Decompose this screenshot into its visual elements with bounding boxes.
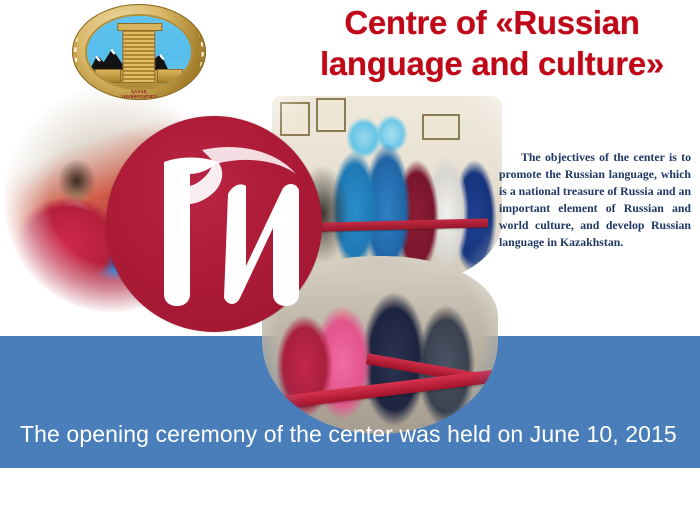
emblem-inner-scene xyxy=(87,16,192,89)
wall-plaque-frame xyxy=(422,114,460,140)
emblem-left-wing xyxy=(95,69,121,83)
slide-canvas: ҚАЗАҚ УНИВЕРСИТЕТІ Centre of «Russian la… xyxy=(0,0,700,525)
page-title: Centre of «Russian language and culture» xyxy=(292,2,692,84)
pushkin-institute-monogram-icon xyxy=(106,116,322,332)
page-title-line-1: Centre of «Russian xyxy=(292,2,692,43)
emblem-right-wing xyxy=(157,69,183,83)
objectives-paragraph: The objectives of the center is to promo… xyxy=(499,149,691,251)
red-ribbon xyxy=(262,369,498,412)
emblem-tower-icon xyxy=(122,27,155,83)
emblem-caption: ҚАЗАҚ УНИВЕРСИТЕТІ xyxy=(72,89,206,99)
page-title-line-2: language and culture» xyxy=(292,43,692,84)
emblem-caption-line-2: УНИВЕРСИТЕТІ xyxy=(72,94,206,99)
kaznu-emblem: ҚАЗАҚ УНИВЕРСИТЕТІ xyxy=(72,4,206,100)
ceremony-caption: The opening ceremony of the center was h… xyxy=(20,419,688,449)
pushkin-institute-logo xyxy=(106,116,322,332)
